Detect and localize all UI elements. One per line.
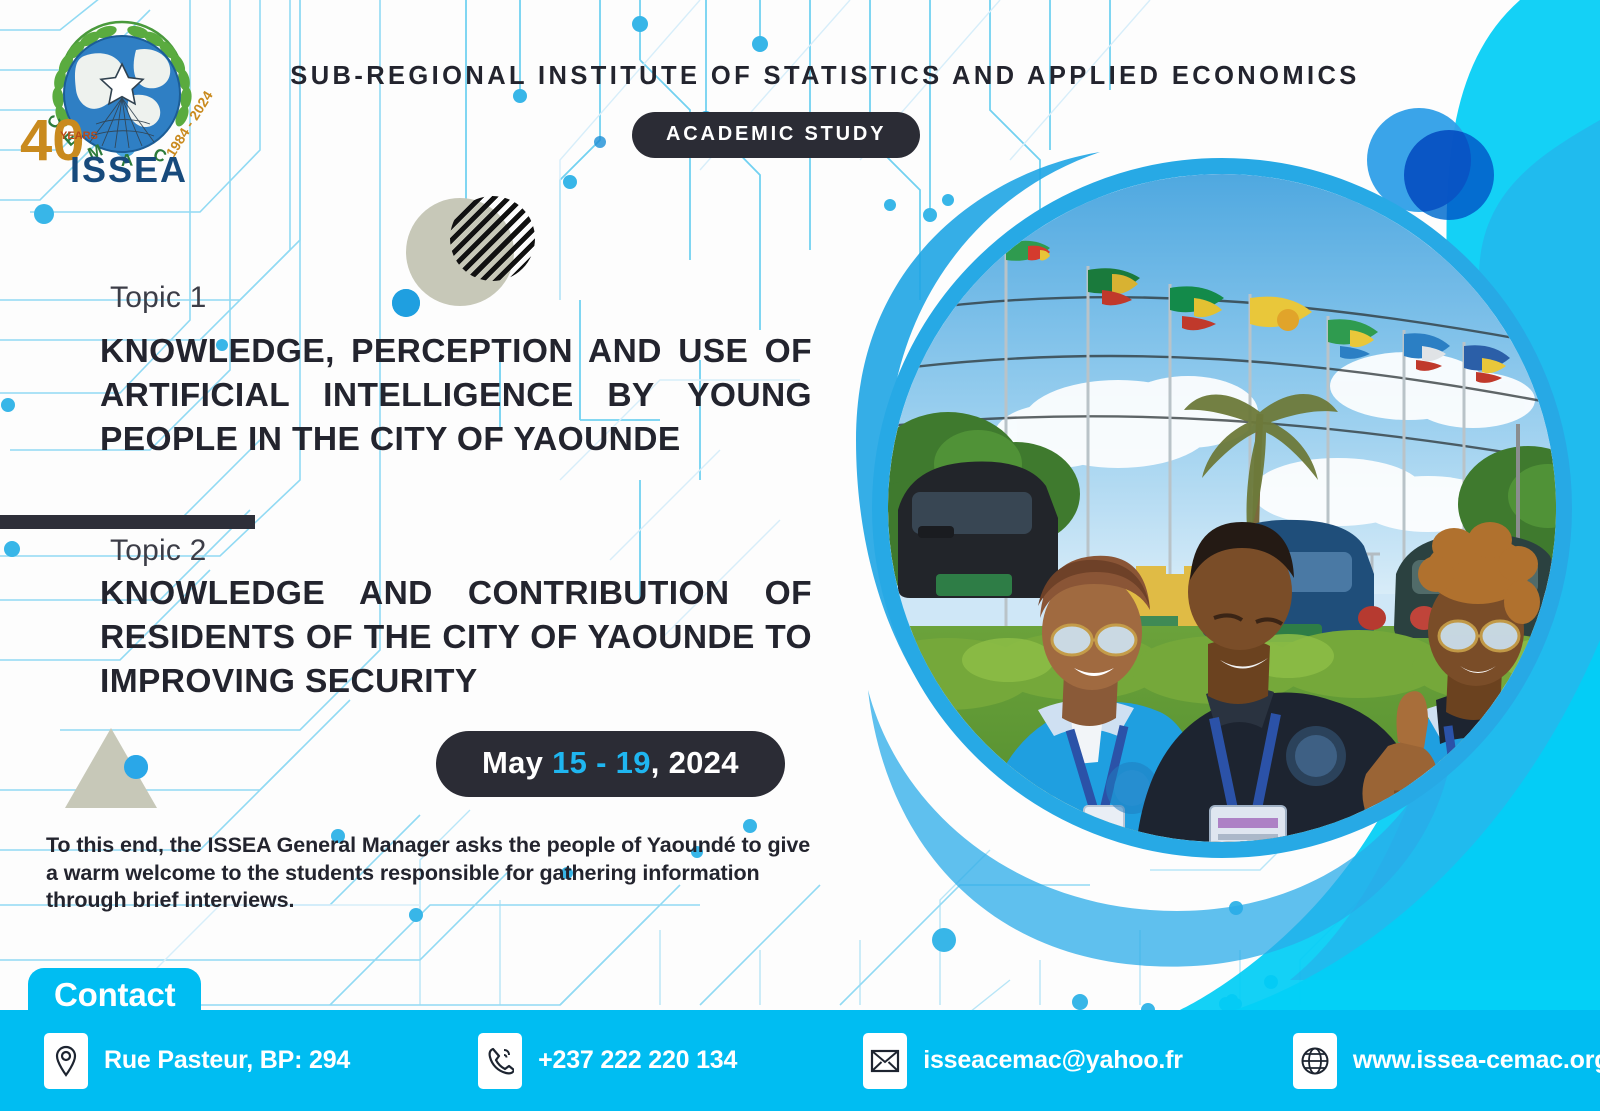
- date-badge: May 15 - 19, 2024: [436, 731, 785, 797]
- contact-items: Rue Pasteur, BP: 294 +237 222 220 134 is…: [0, 1010, 1600, 1111]
- globe-icon: [1293, 1033, 1337, 1089]
- contact-phone-value: +237 222 220 134: [538, 1046, 737, 1075]
- issea-cemac-logo: C E M A C 40 YEARS ISSEA 1984 - 2024: [12, 6, 220, 186]
- envelope-icon: [863, 1033, 907, 1089]
- poster-canvas: C E M A C 40 YEARS ISSEA 1984 - 2024 SUB…: [0, 0, 1600, 1111]
- students-photo: [872, 158, 1572, 858]
- topic-1-title: KNOWLEDGE, PERCEPTION AND USE OF ARTIFIC…: [100, 330, 812, 462]
- date-month: May: [482, 745, 543, 780]
- academic-study-badge: ACADEMIC STUDY: [632, 112, 920, 158]
- date-range: 15 - 19: [552, 745, 651, 780]
- contact-address-value: Rue Pasteur, BP: 294: [104, 1046, 350, 1075]
- contact-phone[interactable]: +237 222 220 134: [478, 1033, 737, 1089]
- contact-address[interactable]: Rue Pasteur, BP: 294: [44, 1033, 350, 1089]
- lead-paragraph: To this end, the ISSEA General Manager a…: [46, 832, 816, 915]
- blue-dot-decoration-top: [392, 289, 420, 317]
- photo-ring: [872, 158, 1572, 858]
- organization-title: SUB-REGIONAL INSTITUTE OF STATISTICS AND…: [280, 62, 1370, 91]
- section-divider: [0, 515, 255, 529]
- topic-1-label: Topic 1: [110, 281, 206, 315]
- contact-email-value: isseacemac@yahoo.fr: [923, 1046, 1183, 1075]
- contact-website[interactable]: www.issea-cemac.org: [1293, 1033, 1600, 1089]
- topic-2-label: Topic 2: [110, 534, 206, 568]
- photo-inner: [888, 174, 1556, 842]
- striped-circle-decoration: [450, 196, 535, 281]
- location-pin-icon: [44, 1033, 88, 1089]
- blue-dot-decoration-left: [124, 755, 148, 779]
- phone-icon: [478, 1033, 522, 1089]
- topic-2-title: KNOWLEDGE AND CONTRIBUTION OF RESIDENTS …: [100, 572, 812, 704]
- date-year: , 2024: [651, 745, 739, 780]
- logo-anniversary-word: YEARS: [60, 130, 98, 142]
- contact-email[interactable]: isseacemac@yahoo.fr: [863, 1033, 1183, 1089]
- contact-website-value: www.issea-cemac.org: [1353, 1046, 1600, 1075]
